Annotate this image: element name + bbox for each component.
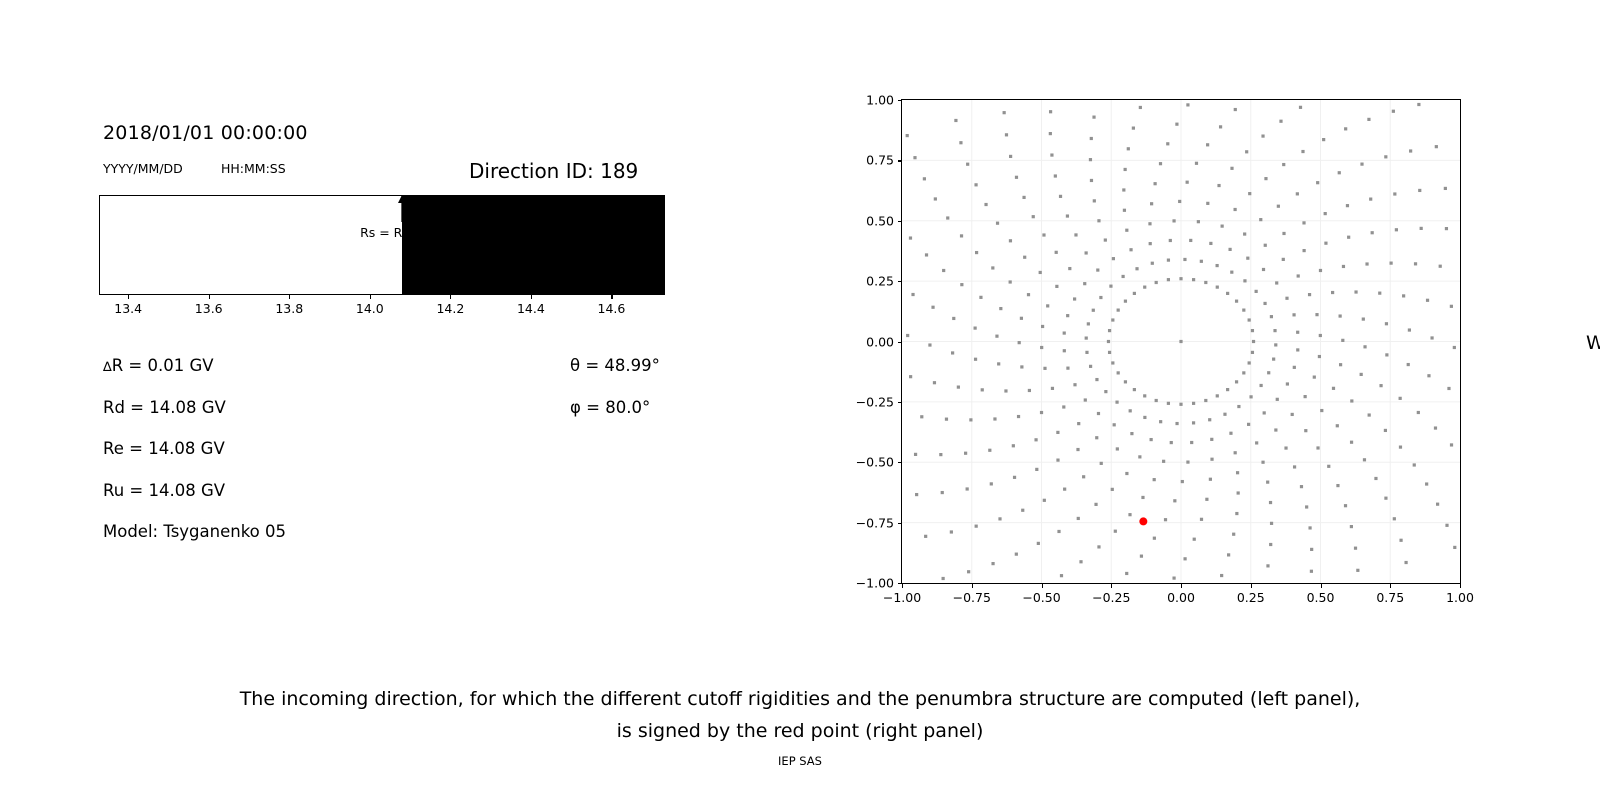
scatter-y-tick-label: −0.75 — [856, 515, 894, 530]
footer-credit: IEP SAS — [0, 754, 1600, 768]
rigidity-info-block: ∆R = 0.01 GVRd = 14.08 GVRe = 14.08 GVRu… — [103, 356, 286, 564]
scatter-x-tick — [972, 583, 973, 588]
scatter-x-tick-label: 0.50 — [1307, 590, 1335, 605]
penumbra-x-tick — [370, 294, 371, 299]
scatter-y-tick — [898, 402, 903, 403]
penumbra-bar-chart: 13.413.613.814.014.214.414.6 Rs = Re = R… — [99, 195, 665, 295]
scatter-y-tick — [898, 342, 903, 343]
compass-west-label: W — [1586, 332, 1600, 354]
scatter-y-tick — [898, 462, 903, 463]
scatter-x-tick-label: 1.00 — [1446, 590, 1474, 605]
scatter-x-tick — [1251, 583, 1252, 588]
scatter-y-tick-label: 0.75 — [866, 153, 894, 168]
penumbra-x-tick-label: 14.0 — [356, 301, 384, 316]
angle-info-line: φ = 80.0° — [570, 398, 660, 417]
scatter-x-tick-label: 0.25 — [1237, 590, 1265, 605]
caption-line-1: The incoming direction, for which the di… — [0, 683, 1600, 715]
penumbra-x-tick — [128, 294, 129, 299]
rigidity-info-line: Model: Tsyganenko 05 — [103, 522, 286, 541]
scatter-y-tick — [898, 523, 903, 524]
penumbra-x-tick — [289, 294, 290, 299]
scatter-x-tick — [1321, 583, 1322, 588]
scatter-x-tick — [1042, 583, 1043, 588]
scatter-x-tick — [1111, 583, 1112, 588]
scatter-y-tick-label: 0.25 — [866, 274, 894, 289]
scatter-y-tick-label: 0.00 — [866, 334, 894, 349]
scatter-x-tick — [902, 583, 903, 588]
scatter-y-tick-label: −0.25 — [856, 394, 894, 409]
scatter-y-tick-label: −1.00 — [856, 576, 894, 591]
scatter-x-tick — [1460, 583, 1461, 588]
scatter-x-tick-label: −0.50 — [1022, 590, 1060, 605]
penumbra-x-tick-label: 13.8 — [275, 301, 303, 316]
scatter-x-tick-label: −1.00 — [883, 590, 921, 605]
scatter-canvas — [902, 100, 1460, 583]
scatter-y-tick — [898, 160, 903, 161]
rigidity-info-line: Re = 14.08 GV — [103, 439, 286, 458]
penumbra-x-tick-label: 13.6 — [195, 301, 223, 316]
rigidity-info-line: Ru = 14.08 GV — [103, 481, 286, 500]
selected-direction-marker — [1139, 517, 1147, 525]
scatter-x-tick-label: −0.25 — [1092, 590, 1130, 605]
datetime-format-date-label: YYYY/MM/DD — [103, 161, 183, 176]
direction-id-label: Direction ID: 189 — [469, 159, 638, 183]
scatter-y-tick — [898, 221, 903, 222]
direction-scatter-plot: −1.00−0.75−0.50−0.250.000.250.500.751.00… — [901, 99, 1461, 584]
penumbra-x-tick-label: 14.6 — [598, 301, 626, 316]
penumbra-x-tick-label: 13.4 — [114, 301, 142, 316]
scatter-y-tick-label: 1.00 — [866, 93, 894, 108]
penumbra-x-tick — [209, 294, 210, 299]
penumbra-x-tick-label: 14.4 — [517, 301, 545, 316]
angle-info-line: θ = 48.99° — [570, 356, 660, 375]
scatter-y-tick-label: −0.50 — [856, 455, 894, 470]
penumbra-x-tick-label: 14.2 — [436, 301, 464, 316]
rigidity-info-line: Rd = 14.08 GV — [103, 398, 286, 417]
angle-info-block: θ = 48.99°φ = 80.0° — [570, 356, 660, 439]
rs-re-rv-arrow-label: Rs = Re = Rv — [360, 225, 444, 240]
figure-caption: The incoming direction, for which the di… — [0, 683, 1600, 747]
scatter-y-tick — [898, 281, 903, 282]
caption-line-2: is signed by the red point (right panel) — [0, 715, 1600, 747]
penumbra-x-tick — [611, 294, 612, 299]
scatter-x-tick-label: 0.75 — [1376, 590, 1404, 605]
datetime-format-time-label: HH:MM:SS — [221, 161, 286, 176]
rigidity-info-line: ∆R = 0.01 GV — [103, 356, 286, 375]
scatter-y-tick — [898, 100, 903, 101]
datetime-value: 2018/01/01 00:00:00 — [103, 122, 308, 144]
penumbra-allowed-band — [100, 196, 402, 294]
penumbra-x-tick — [450, 294, 451, 299]
penumbra-x-tick — [531, 294, 532, 299]
scatter-x-tick — [1390, 583, 1391, 588]
scatter-x-tick-label: 0.00 — [1167, 590, 1195, 605]
penumbra-panel: 2018/01/01 00:00:00 YYYY/MM/DD HH:MM:SS … — [0, 0, 760, 660]
scatter-y-tick-label: 0.50 — [866, 213, 894, 228]
scatter-x-tick — [1181, 583, 1182, 588]
penumbra-forbidden-band — [402, 196, 664, 294]
scatter-x-tick-label: −0.75 — [953, 590, 991, 605]
